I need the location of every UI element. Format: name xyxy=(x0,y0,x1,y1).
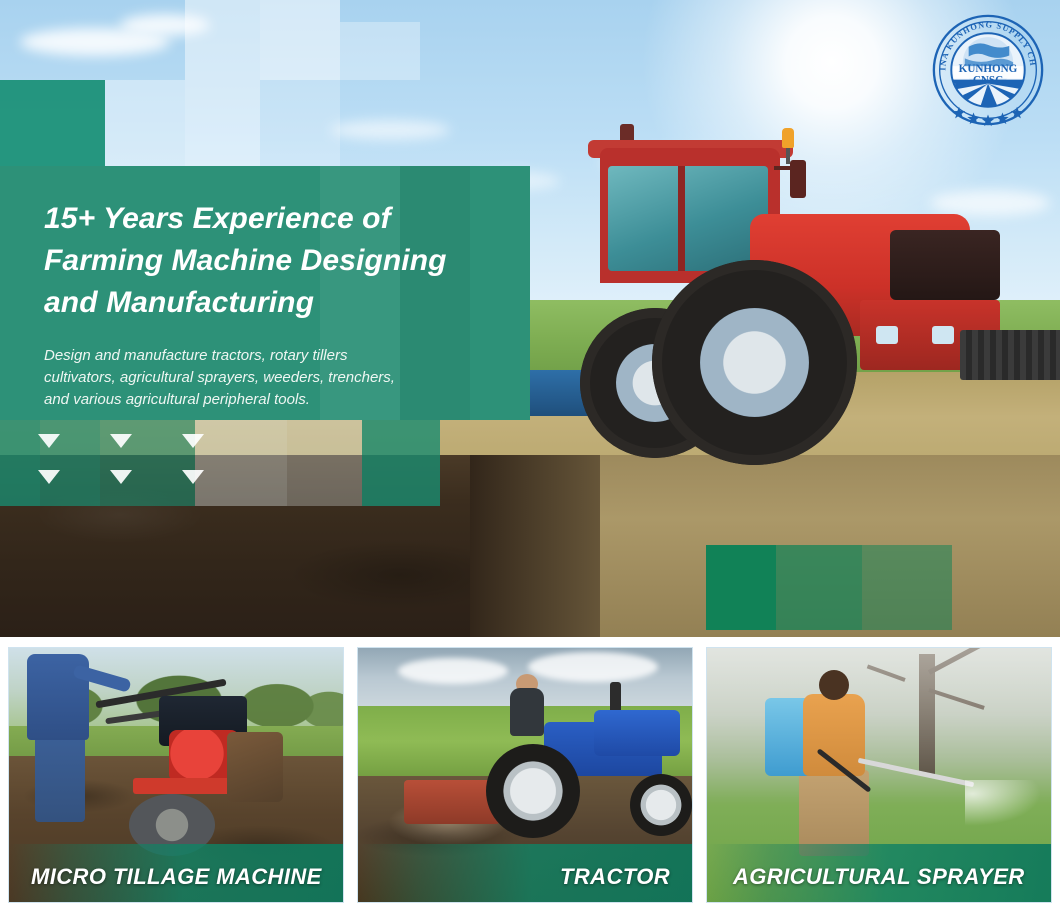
wheel-hub xyxy=(700,308,809,417)
card-label: MICRO TILLAGE MACHINE xyxy=(31,864,322,890)
logo-center-line1: KUNHONG xyxy=(959,63,1018,75)
decor-green-square xyxy=(776,545,862,630)
cloud-shape xyxy=(528,652,658,682)
decor-square xyxy=(105,80,185,166)
tractor-beacon-light xyxy=(782,128,794,148)
photo-operator-legs xyxy=(35,736,85,822)
decor-square xyxy=(260,0,340,80)
tractor-grille xyxy=(890,230,1000,300)
photo-worker-head xyxy=(819,670,849,700)
subtext-line: cultivators, agricultural sprayers, weed… xyxy=(44,367,474,389)
tractor-front-weight xyxy=(960,330,1060,380)
decor-square xyxy=(340,22,420,80)
headline-line: Farming Machine Designing xyxy=(44,240,524,282)
decor-square xyxy=(260,80,340,166)
logo-seal-icon: KUNHONG CNSC CHINA KUNHONG SUPPLY CHAIN xyxy=(930,12,1046,128)
tractor-mirror xyxy=(790,160,806,198)
decor-tile xyxy=(195,420,287,506)
chevron-down-icon xyxy=(182,470,204,484)
product-card-micro-tillage-machine[interactable]: MICRO TILLAGE MACHINE xyxy=(8,647,344,903)
logo-stars xyxy=(953,107,1023,126)
decor-tile xyxy=(362,420,440,506)
subtext-line: and various agricultural peripheral tool… xyxy=(44,389,474,411)
tractor-rear-wheel xyxy=(652,260,857,465)
hero-banner: 15+ Years Experience of Farming Machine … xyxy=(0,0,1060,637)
cloud-shape xyxy=(330,120,450,140)
hero-subtext: Design and manufacture tractors, rotary … xyxy=(44,345,474,411)
tractor-headlight xyxy=(932,326,954,344)
decor-square xyxy=(0,80,105,166)
tractor-cab-pillar xyxy=(678,166,685,271)
product-card-row: MICRO TILLAGE MACHINE TRACTOR xyxy=(0,647,1060,903)
product-card-tractor[interactable]: TRACTOR xyxy=(357,647,693,903)
page-title: 15+ Years Experience of Farming Machine … xyxy=(44,198,524,324)
chevron-down-icon xyxy=(38,470,60,484)
tractor-headlight xyxy=(876,326,898,344)
photo-driver-torso xyxy=(510,688,544,736)
decor-square xyxy=(185,0,260,166)
tractor-rear-wheel xyxy=(486,744,580,838)
decor-tile xyxy=(100,420,195,506)
card-label: AGRICULTURAL SPRAYER xyxy=(733,864,1025,890)
headline-line: 15+ Years Experience of xyxy=(44,198,524,240)
cloud-shape xyxy=(398,658,508,684)
headline-line: and Manufacturing xyxy=(44,282,524,324)
decor-green-square xyxy=(862,545,952,630)
chevron-down-icon xyxy=(110,470,132,484)
tractor-illustration xyxy=(560,130,1060,520)
photo-haze xyxy=(707,648,1051,798)
decor-green-square xyxy=(706,545,776,630)
product-card-agricultural-sprayer[interactable]: AGRICULTURAL SPRAYER xyxy=(706,647,1052,903)
tractor-hood xyxy=(594,710,680,756)
tractor-cab-glass xyxy=(608,166,768,271)
subtext-line: Design and manufacture tractors, rotary … xyxy=(44,345,474,367)
decor-tile xyxy=(0,420,40,506)
logo-center-line2: CNSC xyxy=(973,75,1003,87)
tiller-attachment xyxy=(227,732,283,802)
tractor-front-wheel xyxy=(630,774,692,836)
chevron-down-icon xyxy=(110,434,132,448)
chevron-down-icon xyxy=(182,434,204,448)
company-logo: KUNHONG CNSC CHINA KUNHONG SUPPLY CHAIN xyxy=(930,12,1046,128)
card-label: TRACTOR xyxy=(560,864,670,890)
decor-tile xyxy=(287,420,362,506)
chevron-down-icon xyxy=(38,434,60,448)
spray-mist xyxy=(965,780,1041,826)
